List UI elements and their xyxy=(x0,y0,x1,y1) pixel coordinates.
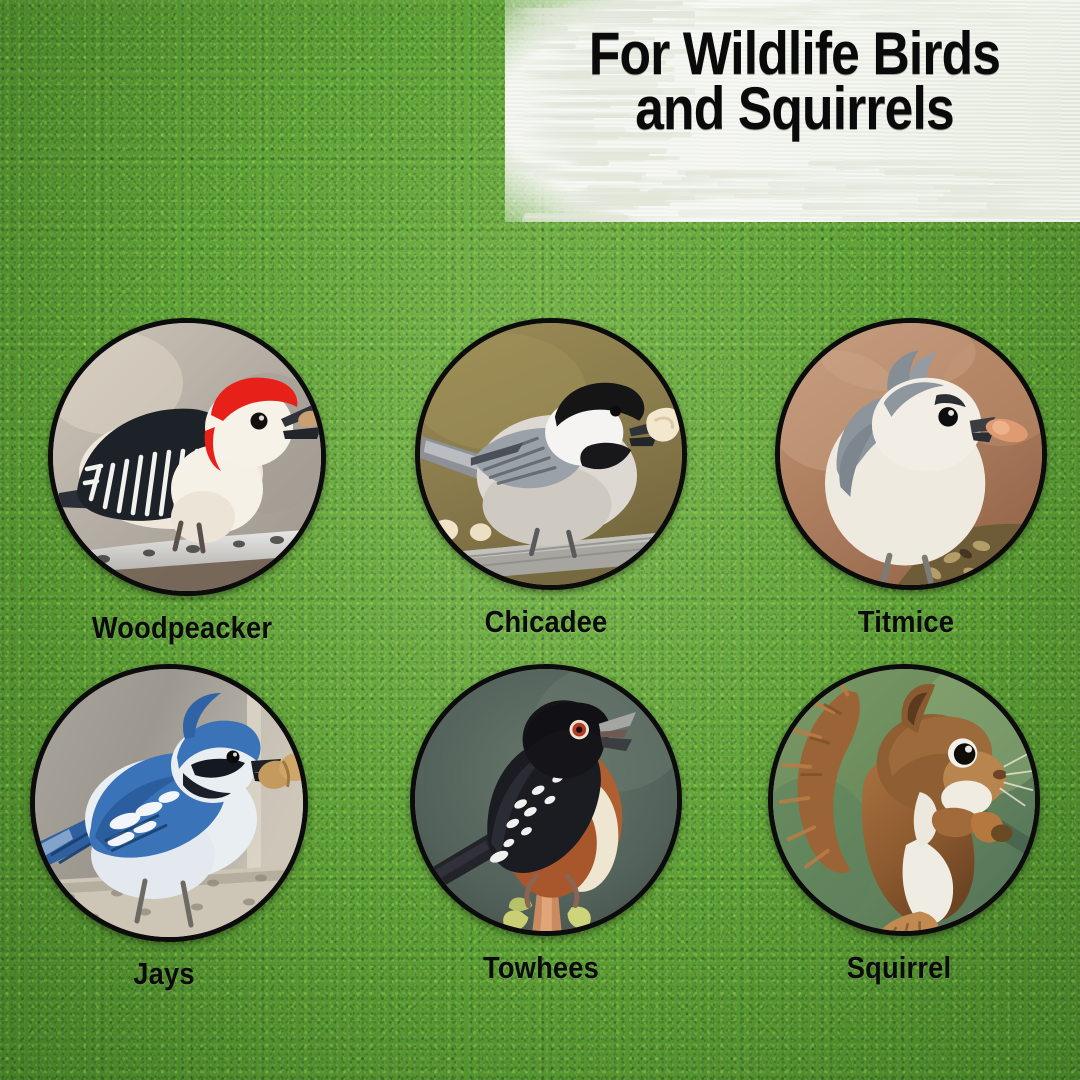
chickadee-illustration xyxy=(420,323,682,585)
species-photo-circle xyxy=(415,318,687,590)
species-label: Woodpeacker xyxy=(64,610,300,646)
species-row: Jays xyxy=(0,664,1080,1010)
species-grid: Woodpeacker xyxy=(0,318,1080,1010)
bluejay-illustration xyxy=(35,669,303,937)
species-photo-circle xyxy=(768,664,1040,936)
species-card-towhees[interactable]: Towhees xyxy=(410,664,710,986)
species-row: Woodpeacker xyxy=(0,318,1080,664)
species-photo-circle xyxy=(30,664,308,942)
species-label: Jays xyxy=(46,956,282,992)
species-photo-circle xyxy=(775,318,1047,590)
squirrel-illustration xyxy=(773,669,1035,931)
species-label: Chicadee xyxy=(431,604,662,640)
titmouse-illustration xyxy=(780,323,1042,585)
species-card-titmice[interactable]: Titmice xyxy=(775,318,1075,640)
species-label: Squirrel xyxy=(784,950,1015,986)
species-photo-circle xyxy=(48,318,326,596)
towhee-illustration xyxy=(415,669,677,931)
species-card-squirrel[interactable]: Squirrel xyxy=(768,664,1068,986)
species-card-woodpeacker[interactable]: Woodpeacker xyxy=(48,318,348,646)
infographic-canvas: For Wildlife Birds and Squirrels xyxy=(0,0,1080,1080)
banner-brush-streaks-bottom xyxy=(505,158,1080,228)
species-card-jays[interactable]: Jays xyxy=(30,664,330,992)
species-photo-circle xyxy=(410,664,682,936)
species-label: Towhees xyxy=(426,950,657,986)
species-label: Titmice xyxy=(791,604,1022,640)
species-card-chicadee[interactable]: Chicadee xyxy=(415,318,715,640)
page-title: For Wildlife Birds and Squirrels xyxy=(561,26,1028,136)
woodpecker-illustration xyxy=(53,323,321,591)
title-banner: For Wildlife Birds and Squirrels xyxy=(505,0,1080,222)
